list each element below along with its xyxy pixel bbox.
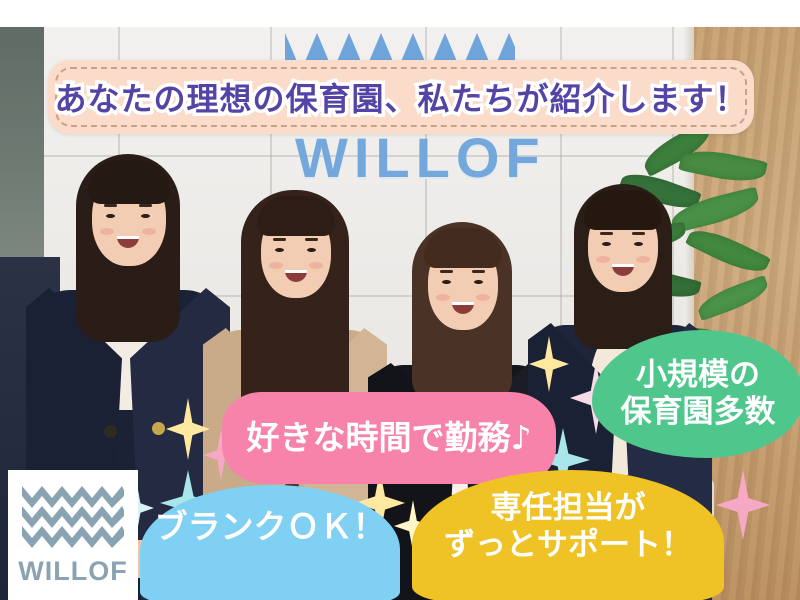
headline-text: あなたの理想の保育園、私たちが紹介します！: [48, 60, 754, 134]
jacket-button: [152, 422, 165, 435]
bubble-line: 好きな時間で勤務♪: [246, 419, 531, 458]
willof-wordmark: WILLOF: [8, 556, 138, 587]
bubble-line: 専任担当が: [491, 490, 646, 527]
bubble-line: 保育園多数: [621, 394, 776, 431]
willof-zigzag-icon: [22, 484, 124, 548]
bubble-line: ブランクＯＫ！: [155, 508, 386, 547]
bubble-line: 小規模の: [636, 357, 760, 394]
bubble-flexible-hours: 好きな時間で勤務♪: [222, 392, 556, 484]
bubble-line: ずっとサポート！: [444, 527, 692, 564]
top-white-strip: [0, 0, 800, 27]
willof-logo: WILLOF: [8, 470, 138, 600]
jacket-button: [104, 425, 117, 438]
headline-banner: あなたの理想の保育園、私たちが紹介します！: [48, 60, 754, 134]
poster-canvas: WILLOF: [0, 0, 800, 600]
